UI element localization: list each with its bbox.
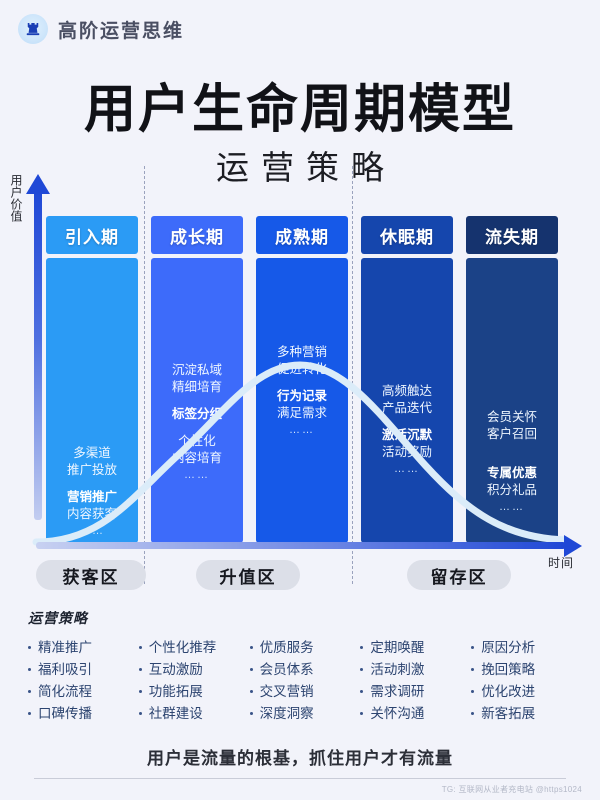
bullet-icon xyxy=(139,646,142,649)
strategy-label: 优化改进 xyxy=(481,682,535,701)
strategy-grid: 精准推广 福利吸引 简化流程 口碑传播 个性化推荐 互动激励 功能拓展 社群建设… xyxy=(28,638,578,723)
strategy-label: 深度洞察 xyxy=(260,704,314,723)
stage-ellipsis: …… xyxy=(361,461,453,477)
stage-line: 精细培育 xyxy=(151,379,243,396)
x-axis-label: 时间 xyxy=(548,554,574,571)
strategy-label: 新客拓展 xyxy=(481,704,535,723)
stage-body: 会员关怀 客户召回 专属优惠 积分礼品 …… xyxy=(466,258,558,543)
stage-line: 促进转化 xyxy=(256,361,348,378)
stage-items: 沉淀私域 精细培育 标签分组 个性化 内容培育 …… xyxy=(151,362,243,543)
y-axis-arrow-icon xyxy=(26,174,50,194)
zone-pill-growth: 升值区 xyxy=(196,560,300,590)
lifecycle-chart: 用户价值 引入期 多渠道 推广投放 营销推广 内容获客 …… 成长期 沉淀私域 … xyxy=(0,170,600,570)
bullet-icon xyxy=(139,690,142,693)
strategy-item: 优质服务 xyxy=(250,638,357,657)
bullet-icon xyxy=(471,690,474,693)
strategy-item: 关怀沟通 xyxy=(360,704,467,723)
strategy-label: 福利吸引 xyxy=(38,660,92,679)
stage-ellipsis: …… xyxy=(46,523,138,539)
bullet-icon xyxy=(360,646,363,649)
strategy-label: 需求调研 xyxy=(370,682,424,701)
strategy-label: 个性化推荐 xyxy=(149,638,217,657)
stage-items: 多种营销 促进转化 行为记录 满足需求 …… xyxy=(256,344,348,543)
stage-line: 多种营销 xyxy=(256,344,348,361)
stage-body: 多渠道 推广投放 营销推广 内容获客 …… xyxy=(46,258,138,543)
strategy-label: 定期唤醒 xyxy=(370,638,424,657)
strategy-item: 交叉营销 xyxy=(250,682,357,701)
zone-label: 升值区 xyxy=(220,563,277,588)
stage-ellipsis: …… xyxy=(151,467,243,483)
strategy-item: 福利吸引 xyxy=(28,660,135,679)
zone-divider-2 xyxy=(352,166,353,584)
stage-line: 客户召回 xyxy=(466,426,558,443)
stage-title: 成熟期 xyxy=(256,216,348,254)
spacer xyxy=(151,423,243,433)
bullet-icon xyxy=(471,668,474,671)
spacer xyxy=(361,417,453,427)
strategy-label: 互动激励 xyxy=(149,660,203,679)
stage-line-bold: 专属优惠 xyxy=(466,465,558,482)
strategy-label: 关怀沟通 xyxy=(370,704,424,723)
strategy-item: 挽回策略 xyxy=(471,660,578,679)
strategy-label: 简化流程 xyxy=(38,682,92,701)
strategy-label: 优质服务 xyxy=(260,638,314,657)
strategy-item: 原因分析 xyxy=(471,638,578,657)
stage-line: 推广投放 xyxy=(46,462,138,479)
strategy-item: 深度洞察 xyxy=(250,704,357,723)
strategy-item: 简化流程 xyxy=(28,682,135,701)
bullet-icon xyxy=(250,646,253,649)
strategy-label: 活动刺激 xyxy=(370,660,424,679)
strategy-item: 个性化推荐 xyxy=(139,638,246,657)
stage-line: 会员关怀 xyxy=(466,409,558,426)
stage-line: 沉淀私域 xyxy=(151,362,243,379)
bullet-icon xyxy=(139,712,142,715)
stage-line: 内容培育 xyxy=(151,450,243,467)
zone-pill-retention: 留存区 xyxy=(407,560,511,590)
bullet-icon xyxy=(250,668,253,671)
chess-rook-icon xyxy=(18,14,48,44)
x-axis-line xyxy=(36,542,566,549)
strategy-column: 精准推广 福利吸引 简化流程 口碑传播 xyxy=(28,638,135,723)
strategy-item: 需求调研 xyxy=(360,682,467,701)
stage-title: 流失期 xyxy=(466,216,558,254)
strategy-column: 原因分析 挽回策略 优化改进 新客拓展 xyxy=(471,638,578,723)
stage-line: 产品迭代 xyxy=(361,400,453,417)
bullet-icon xyxy=(28,646,31,649)
bullet-icon xyxy=(360,668,363,671)
spacer xyxy=(151,396,243,406)
stage-items: 高频触达 产品迭代 激活沉默 活动奖励 …… xyxy=(361,383,453,543)
bullet-icon xyxy=(28,712,31,715)
stage-column: 成熟期 多种营销 促进转化 行为记录 满足需求 …… xyxy=(256,216,348,543)
stage-line: 积分礼品 xyxy=(466,482,558,499)
stage-ellipsis: …… xyxy=(466,499,558,515)
stage-title: 引入期 xyxy=(46,216,138,254)
strategy-label: 原因分析 xyxy=(481,638,535,657)
stage-line: 活动奖励 xyxy=(361,444,453,461)
zone-label: 获客区 xyxy=(63,563,120,588)
zone-pill-acquisition: 获客区 xyxy=(36,560,146,590)
strategy-label: 交叉营销 xyxy=(260,682,314,701)
strategy-item: 精准推广 xyxy=(28,638,135,657)
strategy-column: 个性化推荐 互动激励 功能拓展 社群建设 xyxy=(139,638,246,723)
strategy-item: 功能拓展 xyxy=(139,682,246,701)
stage-line: 高频触达 xyxy=(361,383,453,400)
bullet-icon xyxy=(28,668,31,671)
bullet-icon xyxy=(250,690,253,693)
stage-column: 引入期 多渠道 推广投放 营销推广 内容获客 …… xyxy=(46,216,138,543)
zone-label: 留存区 xyxy=(431,563,488,588)
bullet-icon xyxy=(360,712,363,715)
strategy-label: 功能拓展 xyxy=(149,682,203,701)
stage-line-bold: 营销推广 xyxy=(46,489,138,506)
bullet-icon xyxy=(250,712,253,715)
bullet-icon xyxy=(471,646,474,649)
strategy-item: 社群建设 xyxy=(139,704,246,723)
watermark: TG: 互联网从业者充电站 @https1024 xyxy=(442,784,582,795)
strategy-item: 定期唤醒 xyxy=(360,638,467,657)
stage-title: 成长期 xyxy=(151,216,243,254)
strategy-item: 口碑传播 xyxy=(28,704,135,723)
stage-line-bold: 激活沉默 xyxy=(361,427,453,444)
spacer xyxy=(256,378,348,388)
strategy-label: 口碑传播 xyxy=(38,704,92,723)
strategy-label: 会员体系 xyxy=(260,660,314,679)
stage-body: 多种营销 促进转化 行为记录 满足需求 …… xyxy=(256,258,348,543)
strategy-item: 新客拓展 xyxy=(471,704,578,723)
stage-column: 休眠期 高频触达 产品迭代 激活沉默 活动奖励 …… xyxy=(361,216,453,543)
brand-name: 高阶运营思维 xyxy=(58,16,184,43)
stage-line: 个性化 xyxy=(151,433,243,450)
strategy-section-title: 运营策略 xyxy=(28,608,88,628)
strategy-column: 优质服务 会员体系 交叉营销 深度洞察 xyxy=(250,638,357,723)
stage-line: 内容获客 xyxy=(46,506,138,523)
strategy-label: 挽回策略 xyxy=(481,660,535,679)
stage-column: 成长期 沉淀私域 精细培育 标签分组 个性化 内容培育 …… xyxy=(151,216,243,543)
stage-line-bold: 标签分组 xyxy=(151,406,243,423)
strategy-item: 活动刺激 xyxy=(360,660,467,679)
footer-slogan: 用户是流量的根基，抓住用户才有流量 xyxy=(0,744,600,769)
zone-divider-1 xyxy=(144,166,145,584)
stage-line: 多渠道 xyxy=(46,445,138,462)
brand-header: 高阶运营思维 xyxy=(18,14,184,44)
bullet-icon xyxy=(360,690,363,693)
stage-title: 休眠期 xyxy=(361,216,453,254)
y-axis-line xyxy=(34,190,42,520)
strategy-item: 互动激励 xyxy=(139,660,246,679)
spacer xyxy=(466,443,558,465)
stage-body: 高频触达 产品迭代 激活沉默 活动奖励 …… xyxy=(361,258,453,543)
strategy-label: 精准推广 xyxy=(38,638,92,657)
page-title: 用户生命周期模型 xyxy=(0,80,600,140)
stage-line-bold: 行为记录 xyxy=(256,388,348,405)
stage-items: 会员关怀 客户召回 专属优惠 积分礼品 …… xyxy=(466,409,558,543)
stage-line: 满足需求 xyxy=(256,405,348,422)
stage-ellipsis: …… xyxy=(256,422,348,438)
spacer xyxy=(46,479,138,489)
footer-divider xyxy=(34,778,566,779)
bullet-icon xyxy=(28,690,31,693)
y-axis-label: 用户价值 xyxy=(6,174,24,222)
bullet-icon xyxy=(139,668,142,671)
strategy-label: 社群建设 xyxy=(149,704,203,723)
stage-column: 流失期 会员关怀 客户召回 专属优惠 积分礼品 …… xyxy=(466,216,558,543)
strategy-column: 定期唤醒 活动刺激 需求调研 关怀沟通 xyxy=(360,638,467,723)
strategy-item: 优化改进 xyxy=(471,682,578,701)
stage-items: 多渠道 推广投放 营销推广 内容获客 …… xyxy=(46,445,138,543)
bullet-icon xyxy=(471,712,474,715)
strategy-item: 会员体系 xyxy=(250,660,357,679)
stage-body: 沉淀私域 精细培育 标签分组 个性化 内容培育 …… xyxy=(151,258,243,543)
